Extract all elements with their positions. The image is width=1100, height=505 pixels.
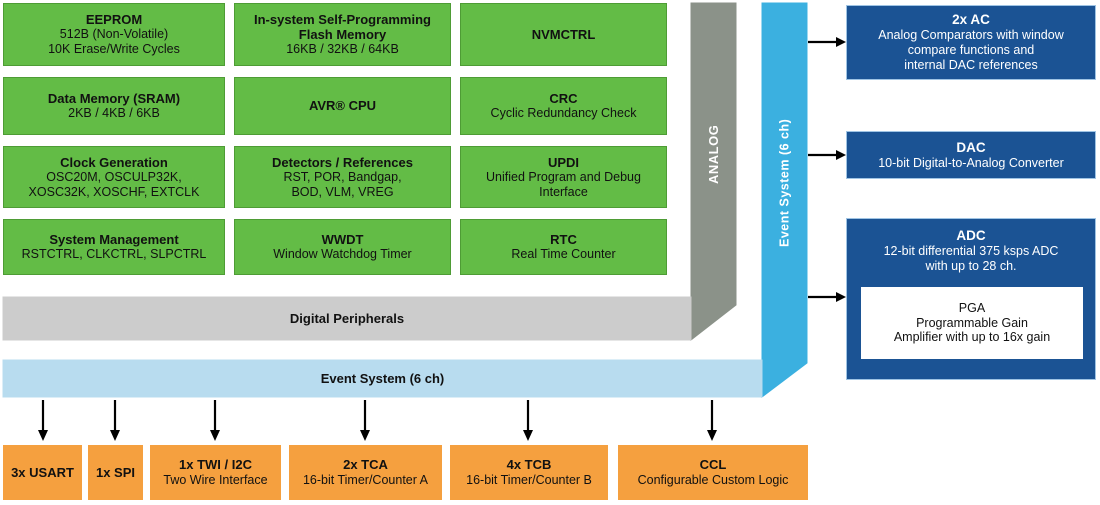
analog-block-title: DAC: [956, 140, 985, 156]
analog-block-line: with up to 28 ch.: [925, 259, 1016, 274]
core-block-flash-memory[interactable]: In-system Self-Programming Flash Memory …: [234, 3, 451, 66]
arrow-to-ac: [808, 37, 846, 47]
core-block-avr-cpu[interactable]: AVR® CPU: [234, 77, 451, 135]
arrow-to-tca: [360, 400, 370, 441]
event-system-horizontal-bar: [3, 360, 762, 397]
analog-block-line: 12-bit differential 375 ksps ADC: [884, 244, 1059, 259]
pga-line: Programmable Gain: [916, 316, 1028, 331]
digital-peripherals-bar: [3, 297, 691, 340]
arrow-to-usart: [38, 400, 48, 441]
core-block-title: NVMCTRL: [532, 27, 596, 42]
core-block-title: AVR® CPU: [309, 98, 376, 113]
core-block-line: RSTCTRL, CLKCTRL, SLPCTRL: [22, 247, 207, 262]
core-block-line: Interface: [539, 185, 588, 200]
block-diagram-canvas: EEPROM 512B (Non-Volatile) 10K Erase/Wri…: [0, 0, 1100, 505]
core-block-line: 10K Erase/Write Cycles: [48, 42, 180, 57]
peripheral-block-line: 16-bit Timer/Counter A: [303, 473, 428, 488]
core-block-wwdt[interactable]: WWDT Window Watchdog Timer: [234, 219, 451, 275]
arrow-to-twi: [210, 400, 220, 441]
core-block-title: Detectors / References: [272, 155, 413, 170]
core-block-title: System Management: [49, 232, 178, 247]
pga-title: PGA: [959, 301, 985, 316]
peripheral-block-line: Configurable Custom Logic: [638, 473, 789, 488]
core-block-line: Real Time Counter: [511, 247, 615, 262]
analog-block-line: internal DAC references: [904, 58, 1037, 73]
peripheral-block-tca[interactable]: 2x TCA 16-bit Timer/Counter A: [289, 445, 442, 500]
core-block-line: Window Watchdog Timer: [273, 247, 411, 262]
arrow-to-spi: [110, 400, 120, 441]
core-block-eeprom[interactable]: EEPROM 512B (Non-Volatile) 10K Erase/Wri…: [3, 3, 225, 66]
core-block-line: 2KB / 4KB / 6KB: [68, 106, 160, 121]
core-block-title-2: Flash Memory: [299, 27, 386, 42]
core-block-line: BOD, VLM, VREG: [291, 185, 393, 200]
core-block-updi[interactable]: UPDI Unified Program and Debug Interface: [460, 146, 667, 208]
peripheral-block-title: CCL: [700, 457, 727, 472]
arrow-to-ccl: [707, 400, 717, 441]
core-block-rtc[interactable]: RTC Real Time Counter: [460, 219, 667, 275]
peripheral-block-spi[interactable]: 1x SPI: [88, 445, 143, 500]
peripheral-block-line: 16-bit Timer/Counter B: [466, 473, 592, 488]
core-block-line: 16KB / 32KB / 64KB: [286, 42, 399, 57]
pga-line: Amplifier with up to 16x gain: [894, 330, 1050, 345]
peripheral-block-title: 4x TCB: [507, 457, 552, 472]
event-system-vertical-bar: [762, 3, 807, 397]
core-block-nvmctrl[interactable]: NVMCTRL: [460, 3, 667, 66]
analog-block-line: compare functions and: [908, 43, 1034, 58]
peripheral-block-title: 3x USART: [11, 465, 74, 480]
arrow-to-adc: [808, 292, 846, 302]
core-block-line: XOSC32K, XOSCHF, EXTCLK: [29, 185, 200, 200]
analog-block-ac[interactable]: 2x AC Analog Comparators with window com…: [846, 5, 1096, 80]
core-block-crc[interactable]: CRC Cyclic Redundancy Check: [460, 77, 667, 135]
peripheral-block-tcb[interactable]: 4x TCB 16-bit Timer/Counter B: [450, 445, 608, 500]
arrow-to-tcb: [523, 400, 533, 441]
core-block-line: RST, POR, Bandgap,: [283, 170, 401, 185]
analog-block-title: 2x AC: [952, 12, 990, 28]
core-block-line: Unified Program and Debug: [486, 170, 641, 185]
core-block-clock-generation[interactable]: Clock Generation OSC20M, OSCULP32K, XOSC…: [3, 146, 225, 208]
analog-block-adc[interactable]: ADC 12-bit differential 375 ksps ADC wit…: [846, 218, 1096, 380]
core-block-title: RTC: [550, 232, 577, 247]
peripheral-block-usart[interactable]: 3x USART: [3, 445, 82, 500]
analog-block-dac[interactable]: DAC 10-bit Digital-to-Analog Converter: [846, 131, 1096, 179]
peripheral-block-line: Two Wire Interface: [163, 473, 267, 488]
core-block-system-management[interactable]: System Management RSTCTRL, CLKCTRL, SLPC…: [3, 219, 225, 275]
core-block-sram[interactable]: Data Memory (SRAM) 2KB / 4KB / 6KB: [3, 77, 225, 135]
analog-block-line: 10-bit Digital-to-Analog Converter: [878, 156, 1064, 171]
peripheral-block-title: 1x TWI / I2C: [179, 457, 252, 472]
peripheral-block-title: 1x SPI: [96, 465, 135, 480]
peripheral-block-title: 2x TCA: [343, 457, 388, 472]
core-block-title: CRC: [549, 91, 577, 106]
core-block-line: 512B (Non-Volatile): [60, 27, 168, 42]
core-block-title: Clock Generation: [60, 155, 168, 170]
core-block-title: In-system Self-Programming: [254, 12, 431, 27]
analog-block-title: ADC: [956, 228, 985, 244]
analog-block-pga[interactable]: PGA Programmable Gain Amplifier with up …: [861, 287, 1083, 359]
peripheral-block-twi-i2c[interactable]: 1x TWI / I2C Two Wire Interface: [150, 445, 281, 500]
peripheral-block-ccl[interactable]: CCL Configurable Custom Logic: [618, 445, 808, 500]
analog-vertical-bar: [691, 3, 736, 340]
core-block-title: EEPROM: [86, 12, 142, 27]
analog-block-line: Analog Comparators with window: [878, 28, 1064, 43]
core-block-detectors-references[interactable]: Detectors / References RST, POR, Bandgap…: [234, 146, 451, 208]
core-block-title: WWDT: [322, 232, 364, 247]
core-block-title: UPDI: [548, 155, 579, 170]
arrow-to-dac: [808, 150, 846, 160]
core-block-line: Cyclic Redundancy Check: [491, 106, 637, 121]
core-block-line: OSC20M, OSCULP32K,: [46, 170, 181, 185]
core-block-title: Data Memory (SRAM): [48, 91, 180, 106]
